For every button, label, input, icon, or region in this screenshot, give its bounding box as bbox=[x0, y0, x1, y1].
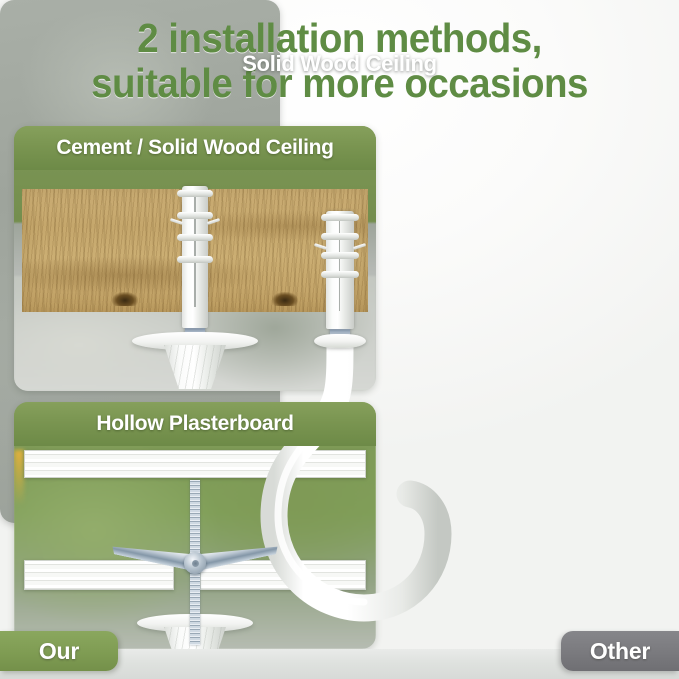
tab-other-label: Other bbox=[590, 638, 650, 665]
anchor-rib bbox=[177, 212, 213, 219]
panel-wood-header: Cement / Solid Wood Ceiling bbox=[14, 126, 376, 170]
anchor-seam bbox=[194, 193, 196, 307]
tab-our[interactable]: Our bbox=[0, 631, 118, 671]
tab-our-label: Our bbox=[39, 638, 79, 665]
plasterboard-sheet-bottom-left bbox=[24, 560, 174, 590]
comparison-infographic: 2 installation methods, suitable for mor… bbox=[0, 0, 679, 679]
panel-other-title: Solid Wood Ceiling bbox=[0, 51, 280, 77]
panel-wood-title: Cement / Solid Wood Ceiling bbox=[56, 136, 333, 160]
tab-other[interactable]: Other bbox=[561, 631, 679, 671]
wall-anchor-icon bbox=[182, 186, 208, 328]
anchor-rib bbox=[177, 234, 213, 241]
panel-board-edge-glow bbox=[14, 450, 24, 506]
toggle-bolt-nut-icon bbox=[184, 552, 206, 574]
wood-knot-icon bbox=[272, 292, 298, 306]
wood-knot-icon bbox=[112, 292, 138, 306]
ceiling-rose-cone bbox=[164, 345, 226, 389]
anchor-rib bbox=[177, 256, 213, 263]
panel-board-header: Hollow Plasterboard bbox=[14, 402, 376, 446]
anchor-rib bbox=[177, 190, 213, 197]
panel-board-title: Hollow Plasterboard bbox=[96, 412, 293, 436]
